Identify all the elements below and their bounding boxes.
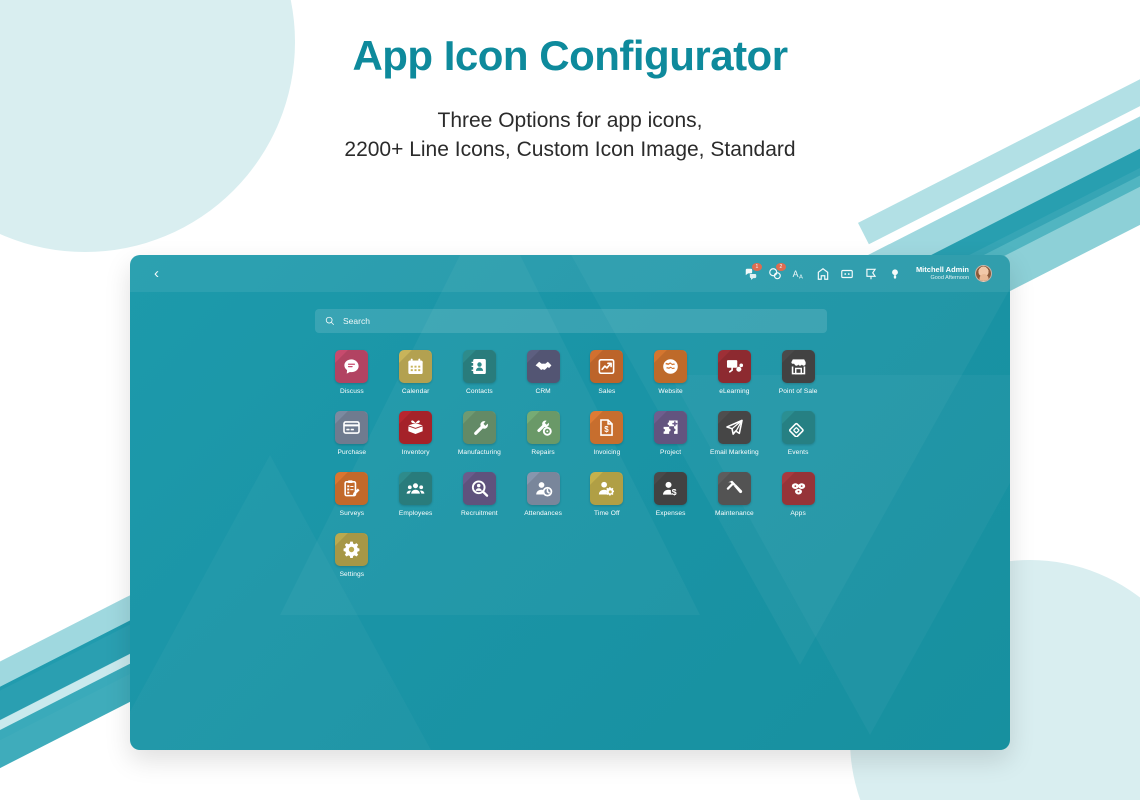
app-tile-surveys[interactable]: Surveys bbox=[320, 472, 384, 517]
app-grid: DiscussCalendarContactsCRMSalesWebsiteeL… bbox=[320, 350, 830, 578]
app-tile-maintenance[interactable]: Maintenance bbox=[703, 472, 767, 517]
page-title: App Icon Configurator bbox=[0, 32, 1140, 80]
people-group-icon[interactable] bbox=[399, 472, 432, 505]
app-tile-recruitment[interactable]: Recruitment bbox=[448, 472, 512, 517]
app-tile-expenses[interactable]: $Expenses bbox=[639, 472, 703, 517]
page-subtitle: Three Options for app icons, 2200+ Line … bbox=[0, 106, 1140, 164]
avatar[interactable] bbox=[975, 265, 992, 282]
open-box-icon[interactable] bbox=[399, 411, 432, 444]
person-clock-icon[interactable] bbox=[527, 472, 560, 505]
page-subtitle-line2: 2200+ Line Icons, Custom Icon Image, Sta… bbox=[0, 135, 1140, 164]
app-tile-calendar[interactable]: Calendar bbox=[384, 350, 448, 395]
storefront-icon[interactable] bbox=[782, 350, 815, 383]
messages-icon[interactable]: 1 bbox=[744, 266, 759, 281]
app-label: Website bbox=[658, 388, 682, 395]
svg-text:A: A bbox=[793, 268, 799, 278]
window-topbar: ‹ 1 2 AA bbox=[130, 255, 1010, 292]
chart-up-icon[interactable] bbox=[590, 350, 623, 383]
app-label: Contacts bbox=[466, 388, 493, 395]
search-input[interactable]: Search bbox=[315, 309, 827, 333]
app-label: Time Off bbox=[594, 510, 620, 517]
gear-icon[interactable] bbox=[335, 533, 368, 566]
clipboard-pen-icon[interactable] bbox=[335, 472, 368, 505]
search-placeholder: Search bbox=[343, 316, 370, 326]
app-tile-attendances[interactable]: Attendances bbox=[511, 472, 575, 517]
app-label: CRM bbox=[535, 388, 550, 395]
app-tile-time-off[interactable]: Time Off bbox=[575, 472, 639, 517]
app-tile-employees[interactable]: Employees bbox=[384, 472, 448, 517]
app-label: Repairs bbox=[531, 449, 554, 456]
app-tile-manufacturing[interactable]: Manufacturing bbox=[448, 411, 512, 456]
globe-icon[interactable] bbox=[654, 350, 687, 383]
app-tile-crm[interactable]: CRM bbox=[511, 350, 575, 395]
apps-grid-icon[interactable] bbox=[840, 266, 855, 281]
blocks-icon[interactable] bbox=[782, 472, 815, 505]
user-menu[interactable]: Mitchell Admin Good Afternoon bbox=[916, 265, 992, 282]
invoice-icon[interactable]: $ bbox=[590, 411, 623, 444]
page-subtitle-line1: Three Options for app icons, bbox=[0, 106, 1140, 135]
user-greeting: Good Afternoon bbox=[916, 275, 969, 281]
app-label: Email Marketing bbox=[710, 449, 759, 456]
app-label: Calendar bbox=[402, 388, 430, 395]
puzzle-plus-icon[interactable] bbox=[654, 411, 687, 444]
app-label: Purchase bbox=[338, 449, 367, 456]
app-label: Recruitment bbox=[461, 510, 498, 517]
wrench-gear-icon[interactable] bbox=[527, 411, 560, 444]
activities-icon[interactable]: 2 bbox=[768, 266, 783, 281]
credit-card-icon[interactable] bbox=[335, 411, 368, 444]
app-tile-inventory[interactable]: Inventory bbox=[384, 411, 448, 456]
handshake-icon[interactable] bbox=[527, 350, 560, 383]
app-label: Employees bbox=[399, 510, 433, 517]
contacts-icon[interactable] bbox=[463, 350, 496, 383]
search-icon bbox=[325, 316, 335, 326]
app-tile-settings[interactable]: Settings bbox=[320, 533, 384, 578]
back-button[interactable]: ‹ bbox=[154, 266, 159, 281]
app-label: Maintenance bbox=[715, 510, 754, 517]
app-label: Project bbox=[660, 449, 681, 456]
app-label: Expenses bbox=[656, 510, 686, 517]
app-label: Sales bbox=[598, 388, 615, 395]
company-icon[interactable] bbox=[816, 266, 831, 281]
discuss-icon[interactable] bbox=[335, 350, 368, 383]
activities-badge: 2 bbox=[776, 263, 786, 271]
app-label: eLearning bbox=[719, 388, 749, 395]
calendar-icon[interactable] bbox=[399, 350, 432, 383]
app-tile-contacts[interactable]: Contacts bbox=[448, 350, 512, 395]
app-tile-events[interactable]: Events bbox=[766, 411, 830, 456]
svg-text:$: $ bbox=[672, 487, 677, 497]
app-tile-invoicing[interactable]: $Invoicing bbox=[575, 411, 639, 456]
app-label: Manufacturing bbox=[458, 449, 501, 456]
app-label: Invoicing bbox=[593, 449, 620, 456]
app-label: Apps bbox=[790, 510, 805, 517]
person-dollar-icon[interactable]: $ bbox=[654, 472, 687, 505]
user-name: Mitchell Admin bbox=[916, 266, 969, 275]
app-tile-email-marketing[interactable]: Email Marketing bbox=[703, 411, 767, 456]
app-window-mockup: ‹ 1 2 AA bbox=[130, 255, 1010, 750]
app-tile-sales[interactable]: Sales bbox=[575, 350, 639, 395]
presentation-icon[interactable] bbox=[718, 350, 751, 383]
app-tile-point-of-sale[interactable]: Point of Sale bbox=[766, 350, 830, 395]
app-tile-elearning[interactable]: eLearning bbox=[703, 350, 767, 395]
app-tile-purchase[interactable]: Purchase bbox=[320, 411, 384, 456]
svg-text:$: $ bbox=[605, 425, 610, 434]
app-tile-repairs[interactable]: Repairs bbox=[511, 411, 575, 456]
app-tile-project[interactable]: Project bbox=[639, 411, 703, 456]
lightbulb-icon[interactable] bbox=[888, 266, 903, 281]
app-tile-discuss[interactable]: Discuss bbox=[320, 350, 384, 395]
user-text: Mitchell Admin Good Afternoon bbox=[916, 266, 969, 281]
paper-plane-icon[interactable] bbox=[718, 411, 751, 444]
app-tile-website[interactable]: Website bbox=[639, 350, 703, 395]
app-label: Discuss bbox=[340, 388, 364, 395]
messages-badge: 1 bbox=[752, 263, 762, 271]
megaphone-icon[interactable] bbox=[864, 266, 879, 281]
topbar-actions: 1 2 AA Mitchell bbox=[744, 265, 1010, 282]
person-gear-icon[interactable] bbox=[590, 472, 623, 505]
app-label: Point of Sale bbox=[779, 388, 818, 395]
magnifier-person-icon[interactable] bbox=[463, 472, 496, 505]
app-label: Settings bbox=[340, 571, 365, 578]
svg-text:A: A bbox=[799, 274, 803, 280]
app-label: Inventory bbox=[402, 449, 430, 456]
ticket-icon[interactable] bbox=[782, 411, 815, 444]
app-tile-apps[interactable]: Apps bbox=[766, 472, 830, 517]
translate-icon[interactable]: AA bbox=[792, 266, 807, 281]
app-label: Surveys bbox=[340, 510, 365, 517]
app-label: Attendances bbox=[524, 510, 562, 517]
hammer-icon[interactable] bbox=[718, 472, 751, 505]
app-label: Events bbox=[788, 449, 809, 456]
wrench-icon[interactable] bbox=[463, 411, 496, 444]
